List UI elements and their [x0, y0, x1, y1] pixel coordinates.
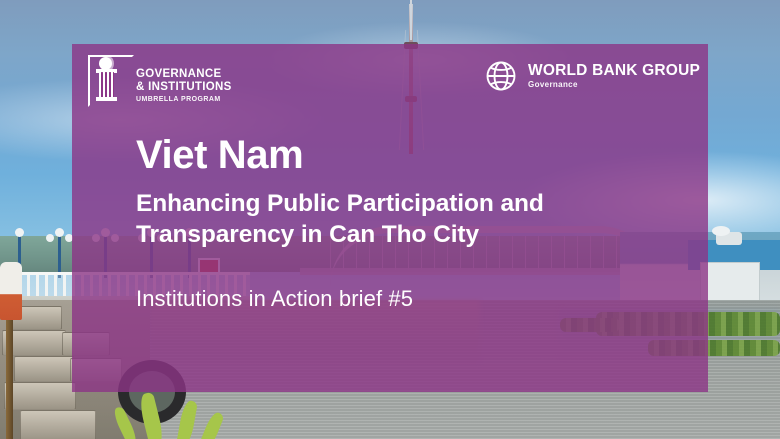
person — [0, 262, 22, 320]
title-block: Viet Nam Enhancing Public Participation … — [136, 132, 676, 250]
column-base — [96, 97, 117, 101]
gi-line-3: UMBRELLA PROGRAM — [136, 94, 232, 105]
cover-page: GOVERNANCE & INSTITUTIONS UMBRELLA PROGR… — [0, 0, 780, 439]
stone-block — [4, 382, 76, 410]
world-bank-unit: Governance — [528, 79, 700, 91]
page-subtitle-line-1: Enhancing Public Participation and — [136, 188, 676, 219]
lamp-head — [55, 228, 64, 237]
satellite-dish — [712, 226, 730, 236]
tower-mast — [410, 0, 412, 40]
column-shaft — [99, 72, 114, 98]
world-bank-name: WORLD BANK GROUP — [528, 62, 700, 79]
world-bank-group-logo: WORLD BANK GROUP Governance — [483, 58, 700, 94]
classical-column-icon — [88, 55, 130, 103]
gi-line-2: & INSTITUTIONS — [136, 81, 232, 94]
world-bank-wordmark: WORLD BANK GROUP Governance — [528, 62, 700, 91]
globe-icon — [483, 58, 519, 94]
stone-block — [14, 356, 74, 382]
governance-institutions-wordmark: GOVERNANCE & INSTITUTIONS UMBRELLA PROGR… — [136, 55, 232, 105]
lamp-head — [46, 234, 54, 242]
page-title: Viet Nam — [136, 132, 676, 178]
page-subtitle-line-2: Transparency in Can Tho City — [136, 219, 676, 250]
lamp-head — [15, 228, 24, 237]
series-label: Institutions in Action brief #5 — [136, 285, 413, 313]
stone-block — [20, 410, 96, 439]
governance-institutions-logo: GOVERNANCE & INSTITUTIONS UMBRELLA PROGR… — [88, 55, 232, 105]
gi-line-1: GOVERNANCE — [136, 68, 232, 81]
